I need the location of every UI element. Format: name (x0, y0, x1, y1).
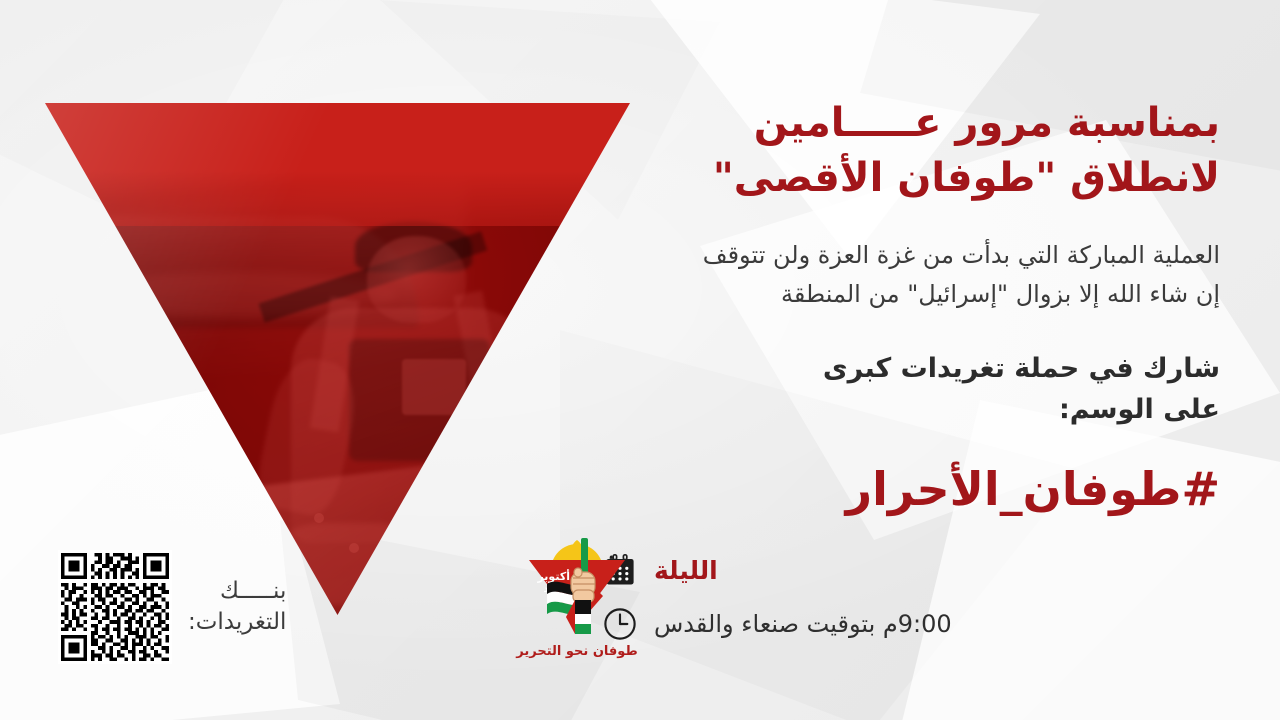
poster-canvas: بمناسبة مرور عـــــامين لانطلاق "طوفان ا… (0, 0, 1280, 720)
raised-fist-palestine-logo: ٧ أكتوبر المجيد (519, 532, 635, 640)
schedule-date-row: الليلة (600, 550, 1220, 590)
tweet-bank-block[interactable]: بنـــــك التغريدات: (58, 550, 286, 664)
content-column: بمناسبة مرور عـــــامين لانطلاق "طوفان ا… (600, 96, 1220, 644)
headline-line-1: بمناسبة مرور عـــــامين (600, 96, 1220, 151)
campaign-logo: ٧ أكتوبر المجيد (492, 532, 662, 659)
call-to-action: شارك في حملة تغريدات كبرى على الوسم: (600, 348, 1220, 430)
schedule-date-label: الليلة (654, 556, 718, 585)
headline: بمناسبة مرور عـــــامين لانطلاق "طوفان ا… (600, 96, 1220, 206)
tweet-bank-label-line-1: بنـــــك (188, 576, 286, 607)
qr-code-icon[interactable] (58, 550, 172, 664)
paragraph-line-1: العملية المباركة التي بدأت من غزة العزة … (600, 236, 1220, 275)
callout-line-1: شارك في حملة تغريدات كبرى (600, 348, 1220, 389)
schedule-time-row: 9:00م بتوقيت صنعاء والقدس (600, 604, 1220, 644)
paragraph-line-2: إن شاء الله إلا بزوال "إسرائيل" من المنط… (600, 275, 1220, 314)
tweet-bank-label-line-2: التغريدات: (188, 607, 286, 638)
schedule-time-label: 9:00م بتوقيت صنعاء والقدس (654, 610, 952, 638)
headline-line-2: لانطلاق "طوفان الأقصى" (600, 151, 1220, 206)
campaign-hashtag[interactable]: #طوفان_الأحرار (600, 466, 1220, 512)
body-paragraph: العملية المباركة التي بدأت من غزة العزة … (600, 236, 1220, 314)
tweet-bank-label: بنـــــك التغريدات: (188, 576, 286, 638)
callout-line-2: على الوسم: (600, 389, 1220, 430)
logo-caption: طوفان نحو التحرير (492, 644, 662, 659)
schedule-block: الليلة 9:00م بتوقيت صنعاء والقدس (600, 550, 1220, 644)
